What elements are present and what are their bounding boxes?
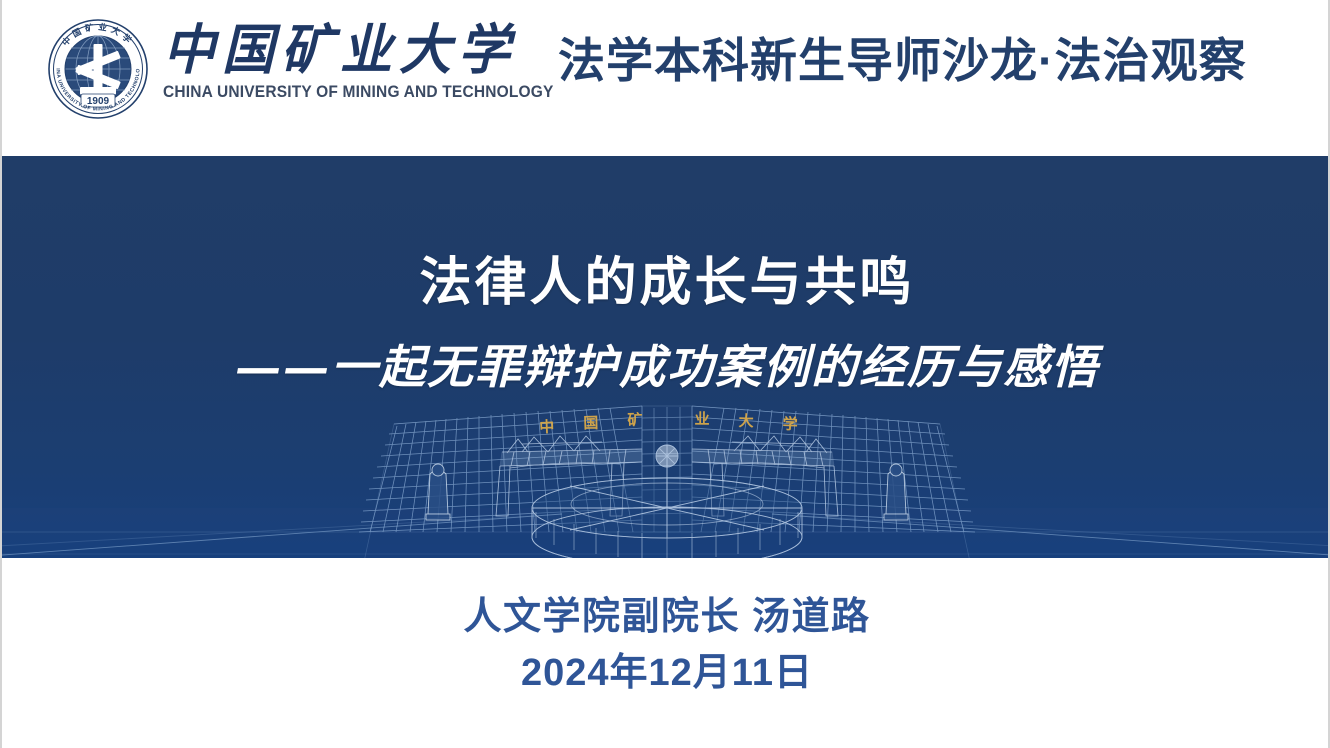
event-series-title: 法学本科新生导师沙龙·法治观察: [558, 34, 1247, 88]
university-logo: 1909 CHINA UNIVERSITY OF MINING AND TECH…: [47, 18, 579, 120]
university-name-cn: 中国矿业大学: [163, 24, 579, 78]
talk-date: 2024年12月11日: [521, 650, 813, 698]
university-wordmark: 中国矿业大学 CHINA UNIVERSITY OF MINING AND TE…: [163, 18, 579, 101]
cumt-seal-emblem-icon: 1909 CHINA UNIVERSITY OF MINING AND TECH…: [47, 18, 149, 120]
slide-main-title: 法律人的成长与共鸣: [419, 252, 914, 314]
university-name-en: CHINA UNIVERSITY OF MINING AND TECHNOLOG…: [163, 84, 554, 101]
slide-stage: 中 国 矿 业 大 学: [2, 156, 1330, 558]
presenter-name: 人文学院副院长 汤道路: [463, 594, 870, 642]
slide-header: 1909 CHINA UNIVERSITY OF MINING AND TECH…: [2, 0, 1330, 156]
slide-sub-title: ——一起无罪辩护成功案例的经历与感悟: [235, 340, 1099, 395]
slide-footer: 人文学院副院长 汤道路 2024年12月11日: [2, 558, 1330, 748]
slide-title-block: 法律人的成长与共鸣 ——一起无罪辩护成功案例的经历与感悟: [2, 156, 1330, 558]
presentation-slide: 1909 CHINA UNIVERSITY OF MINING AND TECH…: [0, 0, 1330, 748]
emblem-year-text: 1909: [87, 96, 110, 107]
